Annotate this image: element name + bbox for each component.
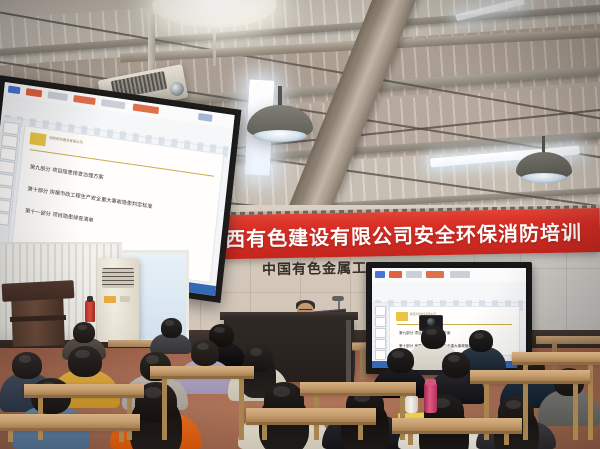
desk-row2-left — [24, 384, 144, 395]
slide-thumbnail[interactable] — [0, 199, 11, 213]
slide-line-3: 第十一部分 项目隐患排查清单 — [25, 207, 94, 224]
ac-control-panel[interactable] — [120, 296, 130, 302]
slide-logo-caption: 陕西有色建设有限公司 — [49, 135, 83, 145]
side-table-far-right — [536, 336, 600, 344]
desk-leg — [239, 376, 244, 440]
attendee-hair-highlight — [250, 348, 262, 356]
slide-logo-icon — [29, 132, 46, 146]
wooden-lectern-top — [2, 280, 75, 302]
slide-thumbnail[interactable] — [2, 121, 19, 135]
desk-edge — [392, 431, 522, 434]
desk-edge — [24, 395, 144, 398]
fire-extinguisher-nozzle — [87, 296, 93, 302]
paper-cup — [405, 396, 418, 413]
attendee-hair-highlight — [144, 387, 162, 398]
camera-lens-icon — [427, 318, 435, 326]
ribbon-tab[interactable] — [198, 113, 213, 122]
ribbon-tab[interactable] — [133, 104, 160, 115]
thermos-bottle-body — [424, 382, 437, 413]
ribbon-tab[interactable] — [26, 88, 43, 97]
attendee-hair-highlight — [146, 355, 159, 363]
ribbon-tab[interactable] — [47, 91, 68, 101]
ac-label — [104, 296, 116, 303]
slide-line-1: 第九部分 项目隐患排查治理方案 — [30, 163, 104, 181]
desk-leg — [573, 381, 578, 440]
attendee-hair-highlight — [392, 351, 403, 358]
slide-thumbnail[interactable] — [0, 173, 14, 187]
app-toolbar[interactable] — [372, 282, 526, 303]
desk-row3-right — [470, 370, 590, 381]
ribbon-tab[interactable] — [389, 271, 402, 278]
training-hall-photo: 中国有色金属工 陕西有色建设有限公司安全环保消防培训 — [0, 0, 600, 449]
slide-logo-icon — [396, 312, 408, 321]
desk-row2-right — [300, 382, 416, 393]
ribbon-tab[interactable] — [406, 271, 422, 278]
slide-line-2: 第十部分 房屋市政工程生产安全重大事故隐患判定标准 — [27, 185, 153, 210]
dome-lamp-bulb — [253, 130, 307, 142]
desk-edge — [246, 422, 376, 425]
attendee-hair-highlight — [214, 327, 225, 333]
ribbon-tab[interactable] — [73, 95, 96, 105]
training-banner: 陕西有色建设有限公司安全环保消防培训 — [186, 208, 600, 260]
slide-thumbnail[interactable] — [375, 317, 386, 327]
ribbon-tab[interactable] — [450, 271, 470, 278]
attendee-hair-highlight — [273, 386, 290, 396]
slide-thumbnail[interactable] — [0, 160, 15, 174]
ribbon-tab[interactable] — [8, 86, 21, 95]
banner-text: 陕西有色建设有限公司安全环保消防培训 — [204, 216, 582, 252]
desk-leg — [162, 376, 167, 440]
ac-vent-grille — [102, 268, 134, 288]
thermos-bottle-cap — [425, 379, 436, 385]
attendee-hair-highlight — [165, 320, 174, 326]
desk-edge — [470, 381, 590, 384]
desk-edge — [0, 428, 140, 431]
side-table-leg — [360, 349, 365, 379]
app-ribbon-tabs[interactable] — [372, 268, 526, 283]
attendee-hair-highlight — [75, 350, 89, 359]
desk-edge — [300, 393, 416, 396]
slide-thumbnail[interactable] — [375, 306, 386, 316]
desk-edge — [512, 362, 600, 365]
ribbon-tab[interactable] — [101, 99, 126, 109]
slide-thumbnail[interactable] — [1, 134, 18, 148]
dome-lamp-bulb-right — [521, 173, 567, 183]
slide-thumbnail[interactable] — [375, 328, 386, 338]
desk-front-right — [392, 418, 522, 431]
attendee-hair-highlight — [19, 355, 32, 363]
attendee-hair-highlight — [474, 333, 484, 339]
slide-thumbnail[interactable] — [0, 212, 10, 226]
desk-row3-left — [150, 366, 254, 376]
desk-front-left — [0, 414, 140, 428]
ribbon-tab[interactable] — [426, 271, 444, 278]
desk-microphone — [332, 296, 344, 301]
desk-edge — [150, 376, 254, 379]
desk-row4-right — [512, 352, 600, 362]
slide-thumbnail[interactable] — [0, 186, 13, 200]
fire-extinguisher[interactable] — [85, 300, 95, 322]
attendee-hair-highlight — [426, 329, 437, 335]
slide-thumbnail[interactable] — [0, 147, 17, 161]
ribbon-tab[interactable] — [375, 271, 385, 278]
slide-divider — [397, 324, 512, 325]
desk-front-mid — [246, 408, 376, 422]
